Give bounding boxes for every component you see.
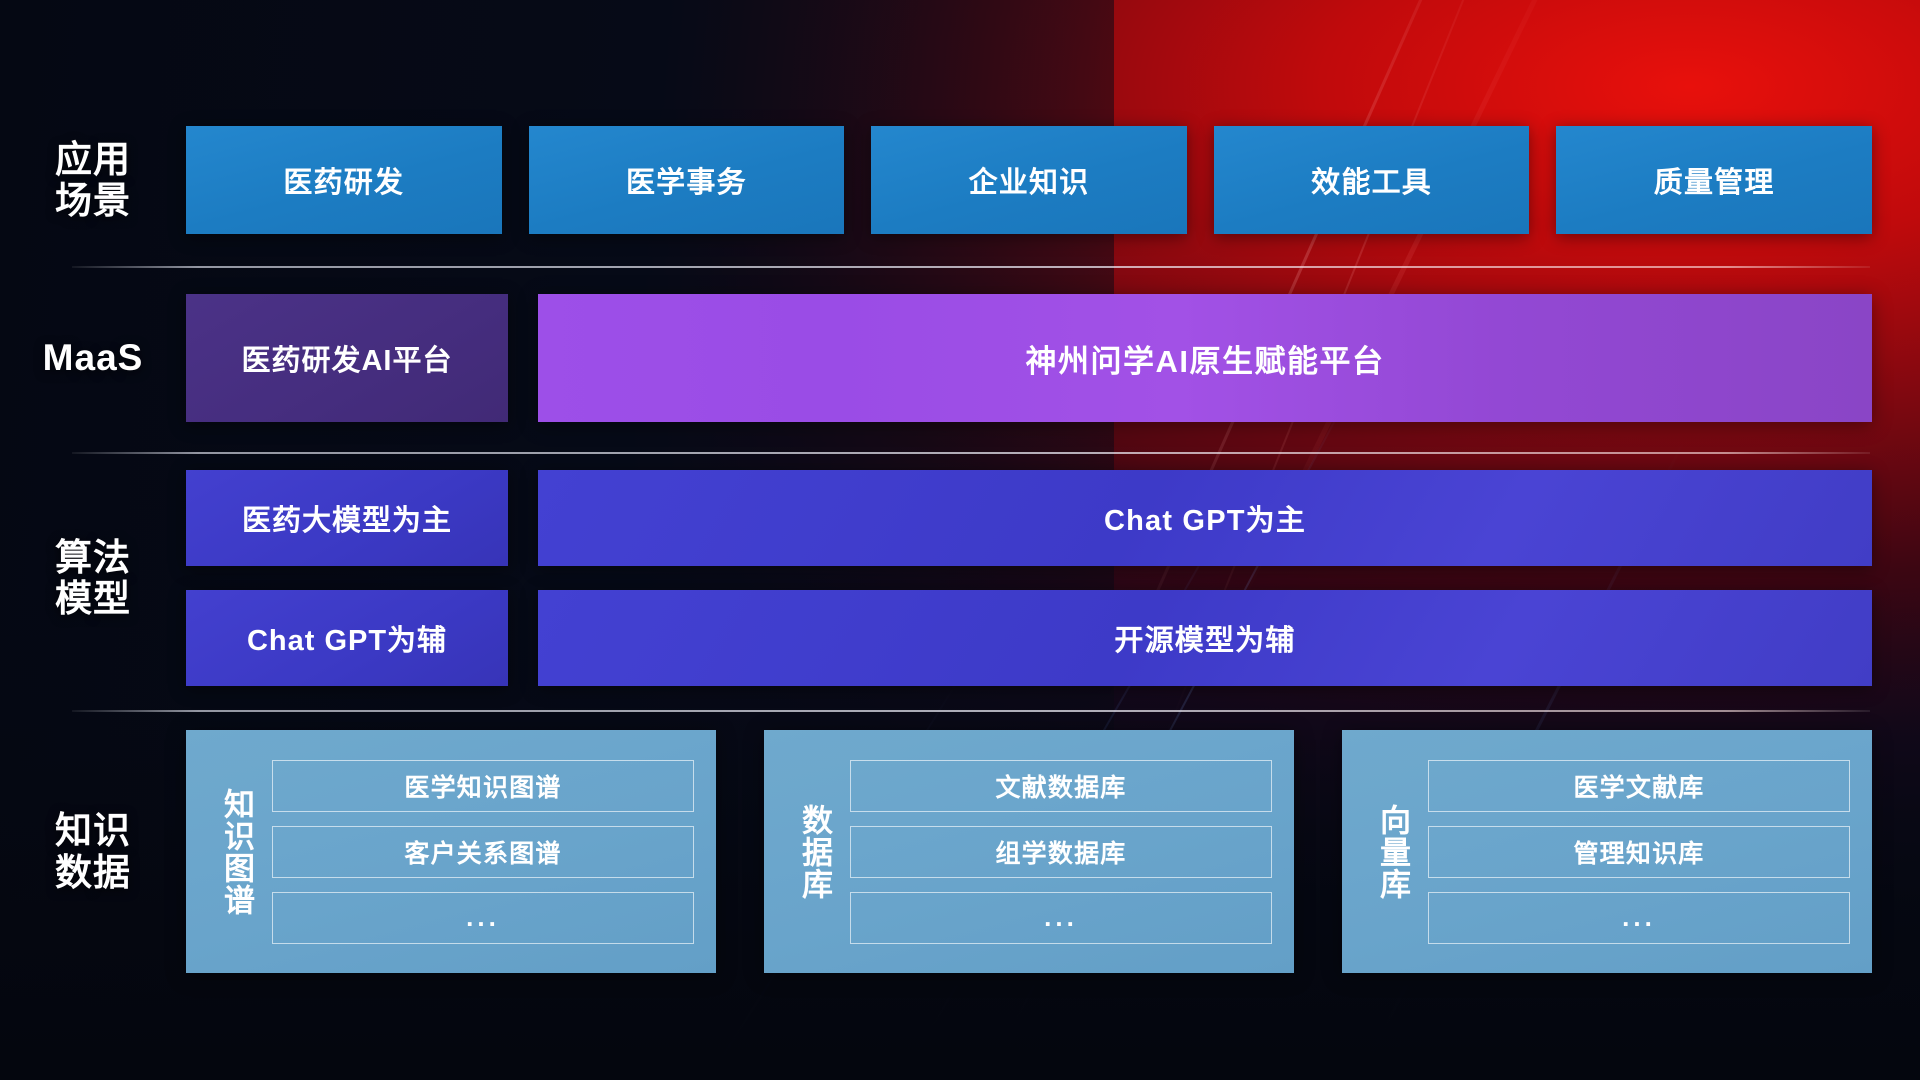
knowledge-chip[interactable]: 管理知识库: [1428, 826, 1850, 878]
application-card[interactable]: 质量管理: [1556, 126, 1872, 234]
application-card-list: 医药研发 医学事务 企业知识 效能工具 质量管理: [186, 126, 1920, 234]
knowledge-panel-database[interactable]: 数据库 文献数据库 组学数据库 ...: [764, 730, 1294, 973]
knowledge-chip[interactable]: 医学知识图谱: [272, 760, 694, 812]
row-algorithm-model: 算法 模型 医药大模型为主 Chat GPT为主 Chat GPT为辅 开源模型…: [0, 470, 1920, 686]
application-card[interactable]: 医药研发: [186, 126, 502, 234]
knowledge-chip-more[interactable]: ...: [1428, 892, 1850, 944]
knowledge-panel-vector[interactable]: 向量库 医学文献库 管理知识库 ...: [1342, 730, 1872, 973]
row-maas: MaaS 医药研发AI平台 神州问学AI原生赋能平台: [0, 294, 1920, 422]
algorithm-card-primary-small[interactable]: 医药大模型为主: [186, 470, 508, 566]
algorithm-bar-list: 医药大模型为主 Chat GPT为主 Chat GPT为辅 开源模型为辅: [186, 470, 1920, 686]
knowledge-chip-more[interactable]: ...: [850, 892, 1272, 944]
algorithm-row-primary: 医药大模型为主 Chat GPT为主: [186, 470, 1872, 566]
algorithm-card-secondary-wide[interactable]: 开源模型为辅: [538, 590, 1872, 686]
row-divider: [72, 452, 1870, 454]
knowledge-chip-list: 医学知识图谱 客户关系图谱 ...: [272, 760, 694, 944]
knowledge-chip[interactable]: 医学文献库: [1428, 760, 1850, 812]
knowledge-panel-graph[interactable]: 知识图谱 医学知识图谱 客户关系图谱 ...: [186, 730, 716, 973]
knowledge-chip[interactable]: 组学数据库: [850, 826, 1272, 878]
row-knowledge-data: 知识 数据 知识图谱 医学知识图谱 客户关系图谱 ... 数据库 文献数据库 组…: [0, 730, 1920, 973]
row-application-scenarios: 应用 场景 医药研发 医学事务 企业知识 效能工具 质量管理: [0, 126, 1920, 234]
application-card[interactable]: 医学事务: [529, 126, 845, 234]
maas-platform-card[interactable]: 医药研发AI平台: [186, 294, 508, 422]
knowledge-panel-title: 数据库: [786, 804, 832, 900]
knowledge-chip[interactable]: 文献数据库: [850, 760, 1272, 812]
maas-panel-list: 医药研发AI平台 神州问学AI原生赋能平台: [186, 294, 1920, 422]
row-divider: [72, 266, 1870, 268]
architecture-diagram: 应用 场景 医药研发 医学事务 企业知识 效能工具 质量管理 MaaS 医药研发…: [0, 0, 1920, 1080]
application-card[interactable]: 效能工具: [1214, 126, 1530, 234]
application-card[interactable]: 企业知识: [871, 126, 1187, 234]
algorithm-card-primary-wide[interactable]: Chat GPT为主: [538, 470, 1872, 566]
row-label-knowledge-data: 知识 数据: [0, 810, 186, 893]
algorithm-card-secondary-small[interactable]: Chat GPT为辅: [186, 590, 508, 686]
knowledge-chip[interactable]: 客户关系图谱: [272, 826, 694, 878]
maas-enablement-platform-bar[interactable]: 神州问学AI原生赋能平台: [538, 294, 1872, 422]
knowledge-chip-list: 文献数据库 组学数据库 ...: [850, 760, 1272, 944]
row-label-algorithm-model: 算法 模型: [0, 537, 186, 620]
row-label-maas: MaaS: [0, 337, 186, 378]
knowledge-panel-title: 知识图谱: [208, 788, 254, 916]
row-label-application-scenarios: 应用 场景: [0, 139, 186, 222]
knowledge-chip-list: 医学文献库 管理知识库 ...: [1428, 760, 1850, 944]
knowledge-panel-list: 知识图谱 医学知识图谱 客户关系图谱 ... 数据库 文献数据库 组学数据库 .…: [186, 730, 1920, 973]
row-divider: [72, 710, 1870, 712]
algorithm-row-secondary: Chat GPT为辅 开源模型为辅: [186, 590, 1872, 686]
knowledge-panel-title: 向量库: [1364, 804, 1410, 900]
knowledge-chip-more[interactable]: ...: [272, 892, 694, 944]
